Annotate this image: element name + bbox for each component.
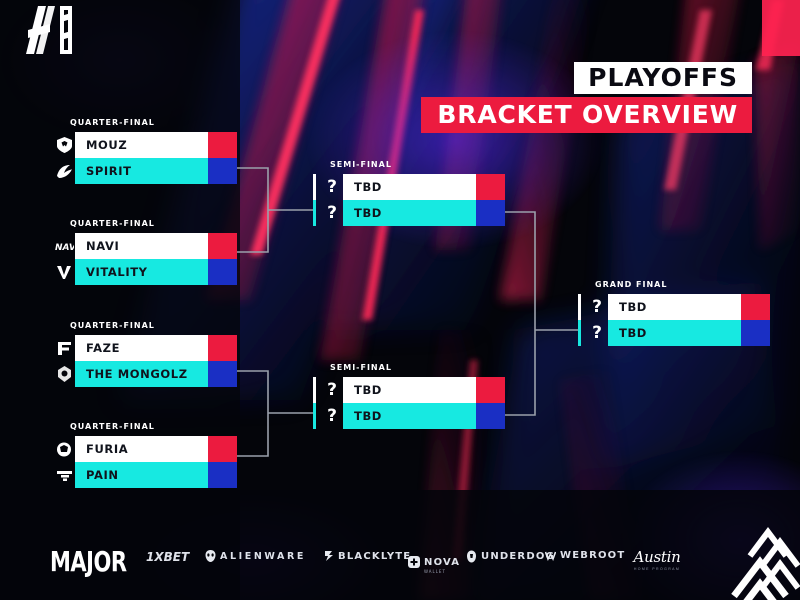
match-quarter-final-1[interactable]: QUARTER-FINAL MOUZ SPIRIT xyxy=(53,118,237,184)
question-mark-icon: ? xyxy=(586,320,608,346)
question-mark-icon: ? xyxy=(321,174,343,200)
sponsor-alienware: ALIENWARE xyxy=(205,550,306,562)
alienware-head-icon xyxy=(205,550,216,562)
mongolz-logo-icon xyxy=(53,361,75,387)
score-block xyxy=(476,200,505,226)
team-name: MOUZ xyxy=(75,138,208,152)
match-quarter-final-4[interactable]: QUARTER-FINAL FURIA PAIN xyxy=(53,422,237,488)
team-row[interactable]: TBD xyxy=(608,320,770,346)
round-label: QUARTER-FINAL xyxy=(70,118,237,127)
team-row[interactable]: TBD xyxy=(608,294,770,320)
sponsor-1xbet: 1XBET xyxy=(146,550,189,564)
team-name: TBD xyxy=(343,409,476,423)
round-label: SEMI-FINAL xyxy=(330,363,505,372)
round-label: QUARTER-FINAL xyxy=(70,219,237,228)
page-title-playoffs: PLAYOFFS xyxy=(574,62,752,94)
score-block xyxy=(208,361,237,387)
team-name: PAIN xyxy=(75,468,208,482)
question-mark-icon: ? xyxy=(321,403,343,429)
team-name: TBD xyxy=(608,326,741,340)
svg-text:NAV: NAV xyxy=(55,243,74,253)
sponsor-nova-wallet: NOVA WALLET xyxy=(408,550,460,574)
score-block xyxy=(741,294,770,320)
sponsor-underdog: UNDERDOG xyxy=(466,550,555,563)
score-block xyxy=(741,320,770,346)
match-semi-final-1[interactable]: SEMI-FINAL ? ? TBD TBD xyxy=(313,160,505,226)
team-row[interactable]: TBD xyxy=(343,403,505,429)
match-quarter-final-3[interactable]: QUARTER-FINAL FAZE THE MONGOLZ xyxy=(53,321,237,387)
score-block xyxy=(208,233,237,259)
score-block xyxy=(476,174,505,200)
sponsor-austin: Austin HOME PROGRAM xyxy=(625,548,689,571)
team-row[interactable]: NAVI xyxy=(75,233,237,259)
team-name: VITALITY xyxy=(75,265,208,279)
question-mark-icon: ? xyxy=(586,294,608,320)
score-block xyxy=(208,132,237,158)
sponsor-name: UNDERDOG xyxy=(481,551,555,562)
round-label: QUARTER-FINAL xyxy=(70,321,237,330)
match-quarter-final-2[interactable]: QUARTER-FINAL NAV NAVI VITALITY xyxy=(53,219,237,285)
navi-logo-icon: NAV xyxy=(53,233,75,259)
sponsor-name: NOVA xyxy=(424,557,460,568)
team-row[interactable]: VITALITY xyxy=(75,259,237,285)
score-block xyxy=(208,436,237,462)
sponsor-name: WEBROOT xyxy=(560,550,625,561)
team-logos: ? ? xyxy=(321,377,343,429)
team-logos: NAV xyxy=(53,233,75,285)
team-name: TBD xyxy=(343,180,476,194)
page-title-bracket-overview: BRACKET OVERVIEW xyxy=(421,97,752,133)
sponsor-name: 1XBET xyxy=(146,550,189,564)
team-name: FAZE xyxy=(75,341,208,355)
event-logo: MAJOR xyxy=(50,546,127,578)
sponsor-blacklyte: BLACKLYTE xyxy=(324,550,411,562)
sponsor-name: ALIENWARE xyxy=(220,551,306,562)
score-block xyxy=(476,377,505,403)
team-name: TBD xyxy=(343,383,476,397)
sponsor-name: Austin xyxy=(625,548,689,566)
team-name: TBD xyxy=(608,300,741,314)
nova-wallet-icon xyxy=(408,556,420,568)
chevron-pattern-icon xyxy=(720,522,800,600)
sponsor-subtitle: WALLET xyxy=(424,569,460,574)
team-row[interactable]: TBD xyxy=(343,377,505,403)
mouz-shield-icon xyxy=(53,132,75,158)
round-label: GRAND FINAL xyxy=(595,280,770,289)
match-grand-final[interactable]: GRAND FINAL ? ? TBD TBD xyxy=(578,280,770,346)
sponsor-name: BLACKLYTE xyxy=(338,551,411,562)
team-logos xyxy=(53,436,75,488)
score-block xyxy=(208,462,237,488)
team-row[interactable]: FAZE xyxy=(75,335,237,361)
team-row[interactable]: SPIRIT xyxy=(75,158,237,184)
faze-logo-icon xyxy=(53,335,75,361)
sponsor-webroot: WEBROOT xyxy=(545,550,625,561)
sponsor-bar: MAJOR 1XBET ALIENWARE BLACKLYTE xyxy=(0,526,800,600)
round-label: QUARTER-FINAL xyxy=(70,422,237,431)
team-row[interactable]: PAIN xyxy=(75,462,237,488)
team-name: TBD xyxy=(343,206,476,220)
match-semi-final-2[interactable]: SEMI-FINAL ? ? TBD TBD xyxy=(313,363,505,429)
major-logo-icon xyxy=(24,4,82,56)
score-block xyxy=(208,259,237,285)
furia-panther-icon xyxy=(53,436,75,462)
team-logos: ? ? xyxy=(321,174,343,226)
match-accent-bar xyxy=(578,294,581,346)
question-mark-icon: ? xyxy=(321,377,343,403)
team-row[interactable]: MOUZ xyxy=(75,132,237,158)
team-row[interactable]: FURIA xyxy=(75,436,237,462)
team-row[interactable]: TBD xyxy=(343,200,505,226)
title-block: PLAYOFFS BRACKET OVERVIEW xyxy=(421,62,752,133)
underdog-logo-icon xyxy=(466,550,477,563)
sponsor-subtitle: HOME PROGRAM xyxy=(625,567,689,571)
blacklyte-logo-icon xyxy=(324,550,334,562)
team-logos: ? ? xyxy=(586,294,608,346)
vitality-logo-icon xyxy=(53,259,75,285)
match-accent-bar xyxy=(313,377,316,429)
score-block xyxy=(476,403,505,429)
team-logos xyxy=(53,335,75,387)
team-logos xyxy=(53,132,75,184)
team-row[interactable]: THE MONGOLZ xyxy=(75,361,237,387)
score-block xyxy=(208,158,237,184)
round-label: SEMI-FINAL xyxy=(330,160,505,169)
team-name: FURIA xyxy=(75,442,208,456)
team-name: SPIRIT xyxy=(75,164,208,178)
pain-logo-icon xyxy=(53,462,75,488)
spirit-logo-icon xyxy=(53,158,75,184)
team-row[interactable]: TBD xyxy=(343,174,505,200)
score-block xyxy=(208,335,237,361)
team-name: THE MONGOLZ xyxy=(75,367,208,381)
match-accent-bar xyxy=(313,174,316,226)
webroot-logo-icon xyxy=(545,551,556,561)
team-name: NAVI xyxy=(75,239,208,253)
question-mark-icon: ? xyxy=(321,200,343,226)
